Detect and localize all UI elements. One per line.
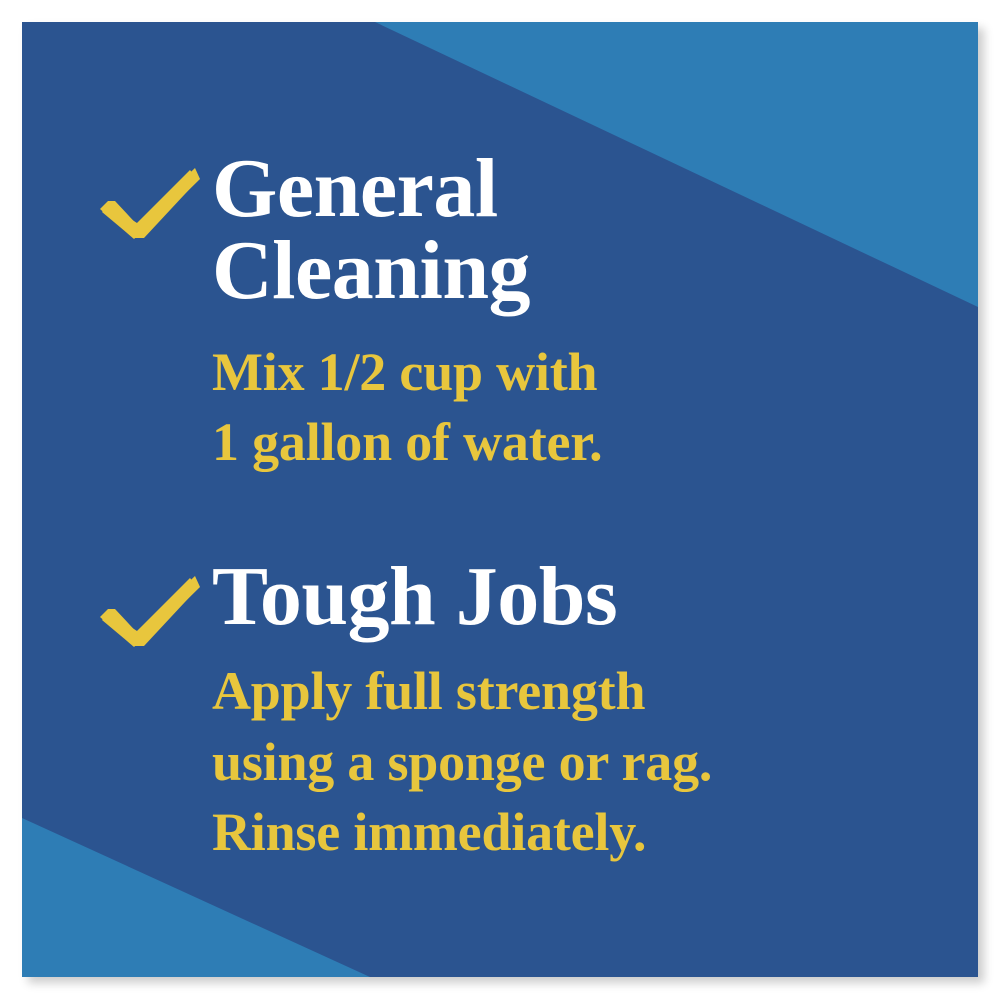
check-icon — [100, 148, 204, 240]
detail-line: Mix 1/2 cup with — [212, 337, 978, 407]
section-text-group: Tough Jobs Apply full strength using a s… — [204, 556, 978, 867]
section-text-group: General Cleaning Mix 1/2 cup with 1 gall… — [204, 148, 978, 477]
detail-line: Apply full strength — [212, 656, 978, 726]
section-detail: Apply full strength using a sponge or ra… — [212, 656, 978, 867]
check-icon — [100, 556, 204, 648]
instructions-card: General Cleaning Mix 1/2 cup with 1 gall… — [22, 22, 978, 977]
poster-stage: General Cleaning Mix 1/2 cup with 1 gall… — [0, 0, 1000, 1000]
detail-line: 1 gallon of water. — [212, 407, 978, 477]
section-detail: Mix 1/2 cup with 1 gallon of water. — [212, 337, 978, 477]
detail-line: Rinse immediately. — [212, 797, 978, 867]
card-content: General Cleaning Mix 1/2 cup with 1 gall… — [22, 22, 978, 977]
section-row: Tough Jobs Apply full strength using a s… — [22, 556, 978, 867]
detail-line: using a sponge or rag. — [212, 727, 978, 797]
section-heading: Tough Jobs — [212, 556, 932, 638]
section-heading: General Cleaning — [212, 148, 772, 313]
section-general-cleaning: General Cleaning Mix 1/2 cup with 1 gall… — [22, 148, 978, 477]
section-row: General Cleaning Mix 1/2 cup with 1 gall… — [22, 148, 978, 477]
section-tough-jobs: Tough Jobs Apply full strength using a s… — [22, 556, 978, 867]
